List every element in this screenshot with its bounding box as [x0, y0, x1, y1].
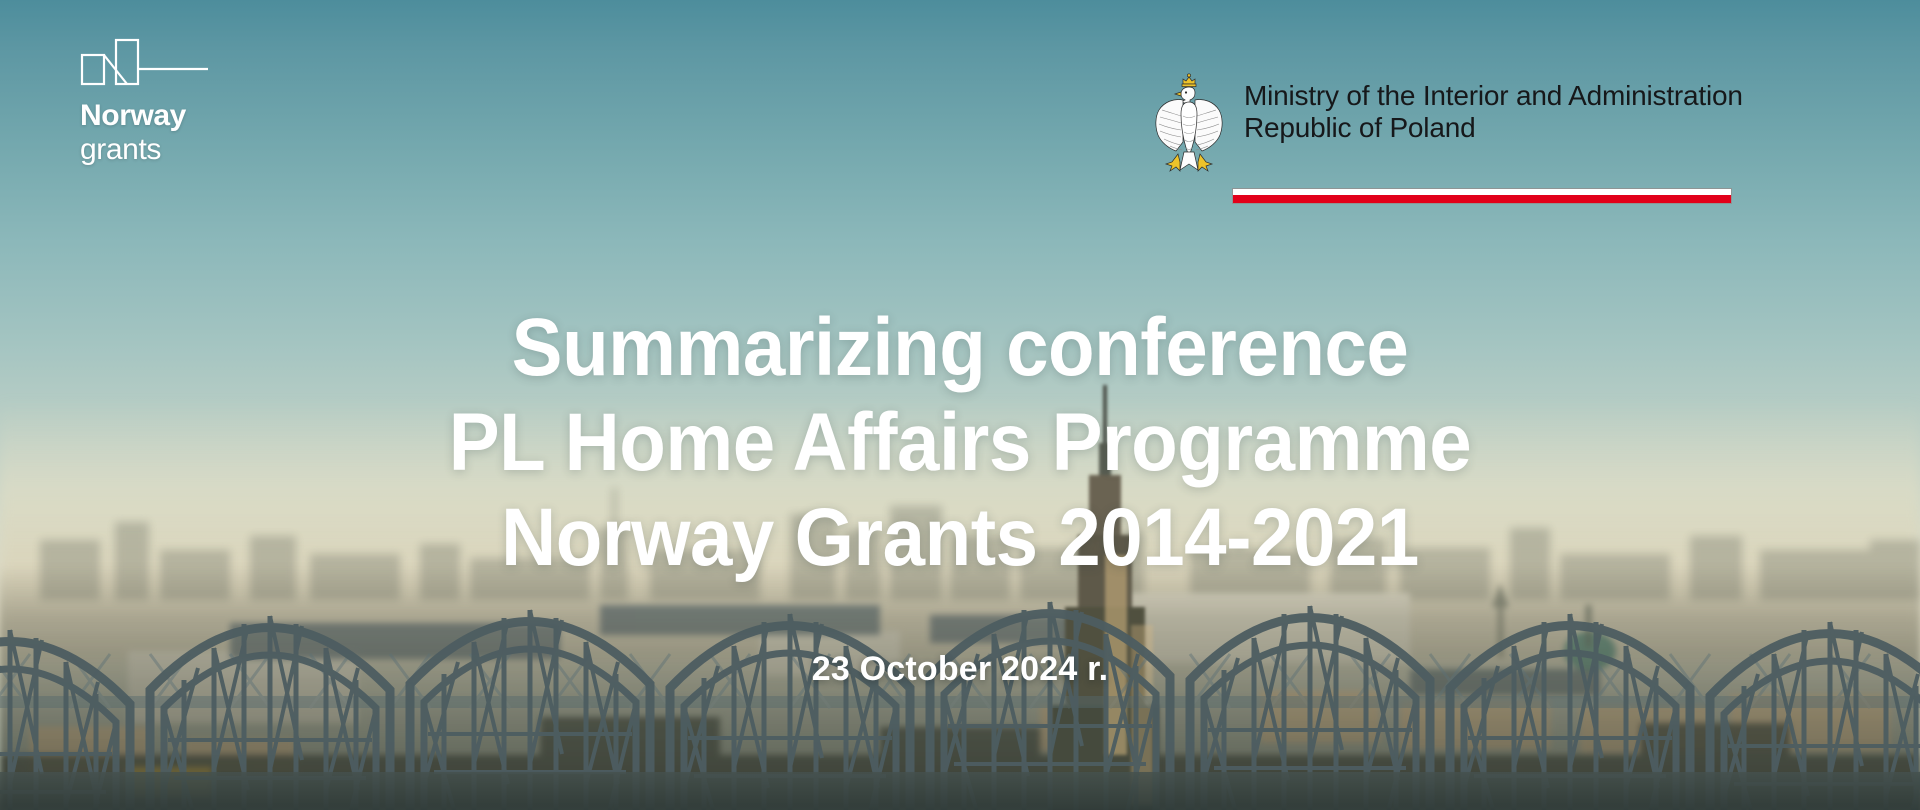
polish-eagle-emblem-icon: [1150, 72, 1228, 180]
title-line-3: Norway Grants 2014-2021: [67, 490, 1853, 585]
polish-eagle-svg: [1150, 72, 1228, 180]
norway-grants-mark-icon: [80, 38, 210, 86]
event-date: 23 October 2024 r.: [0, 650, 1920, 689]
poland-flag-bar-icon: [1232, 188, 1732, 204]
ministry-line-1: Ministry of the Interior and Administrat…: [1244, 80, 1743, 112]
grants-word: grants: [80, 134, 340, 166]
norway-grants-logo[interactable]: Norway grants: [80, 38, 340, 167]
ministry-line-2: Republic of Poland: [1244, 112, 1743, 144]
page-title: Summarizing conference PL Home Affairs P…: [67, 300, 1853, 585]
norway-grants-mark-svg: [80, 38, 210, 86]
foreground-shadow-band: [0, 770, 1920, 810]
title-line-2: PL Home Affairs Programme: [67, 395, 1853, 490]
norway-word: Norway: [80, 100, 340, 132]
norway-grants-wordmark: Norway grants: [80, 100, 340, 167]
conference-title-banner: Norway grants: [0, 0, 1920, 810]
ministry-text-block: Ministry of the Interior and Administrat…: [1244, 68, 1743, 144]
ministry-of-interior-logo[interactable]: Ministry of the Interior and Administrat…: [1150, 68, 1750, 180]
title-line-1: Summarizing conference: [67, 300, 1853, 395]
